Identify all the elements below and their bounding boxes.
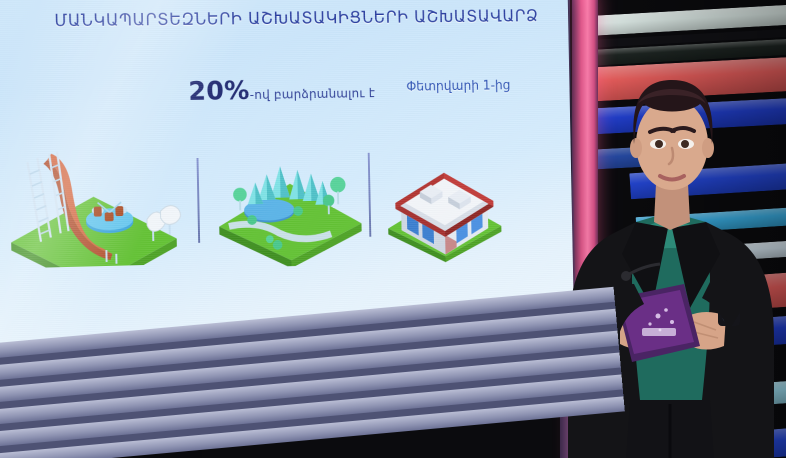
- stat-text: -ով բարձրանալու է: [250, 85, 376, 102]
- playground-illustration: [5, 136, 185, 269]
- slide-title: ՄԱՆԿԱՊԱՐՏԵԶՆԵՐԻ ԱՇԽԱՏԱԿԻՑՆԵՐԻ ԱՇԽԱՏԱՎԱՐՁ: [54, 7, 535, 31]
- building-illustration: [377, 144, 511, 264]
- playground-svg: [5, 136, 185, 269]
- divider-2: [368, 153, 372, 237]
- broadcast-frame: ՄԱՆԿԱՊԱՐՏԵԶՆԵՐԻ ԱՇԽԱՏԱԿԻՑՆԵՐԻ ԱՇԽԱՏԱՎԱՐՁ…: [0, 0, 786, 458]
- building-svg: [377, 144, 511, 264]
- effective-date: Փետրվարի 1-ից: [406, 79, 510, 95]
- slide-stat: 20%-ով բարձրանալու է: [188, 75, 375, 107]
- divider-1: [197, 158, 201, 243]
- park-svg: [212, 149, 368, 268]
- stat-value: 20%: [188, 76, 250, 106]
- park-illustration: [212, 149, 368, 268]
